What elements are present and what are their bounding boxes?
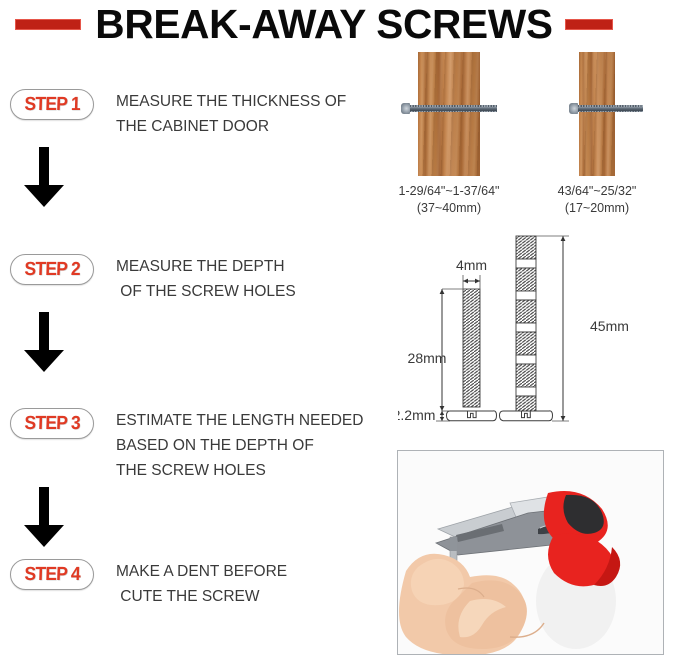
- screw-shaft: [410, 107, 497, 111]
- step-badge-1[interactable]: STEP 1: [10, 89, 94, 120]
- step-line: MEASURE THE THICKNESS OF: [116, 89, 346, 114]
- dimension-45mm: 45mm: [590, 318, 629, 334]
- door-panel-thin: 43/64"~25/32" (17~20mm): [523, 52, 671, 217]
- dimension-imperial: 1-29/64"~1-37/64": [375, 183, 523, 200]
- steps-list: STEP 1 MEASURE THE THICKNESS OF THE CABI…: [0, 48, 375, 662]
- step-badge-label: STEP 4: [24, 564, 80, 586]
- step-line: THE CABINET DOOR: [116, 114, 346, 139]
- red-dash-icon: [15, 19, 81, 30]
- arrow-down-icon: [16, 485, 72, 551]
- screw-head: [569, 103, 578, 114]
- step-row: STEP 2 MEASURE THE DEPTH OF THE SCREW HO…: [0, 254, 296, 304]
- door-panel-thick: 1-29/64"~1-37/64" (37~40mm): [375, 52, 523, 217]
- step-badge-label: STEP 1: [24, 94, 80, 116]
- door-thickness-illustration: 1-29/64"~1-37/64" (37~40mm) 43/64"~25/32…: [375, 52, 679, 220]
- step-line: THE SCREW HOLES: [116, 458, 363, 483]
- screw-shaft: [578, 107, 643, 111]
- red-dash-icon: [565, 19, 613, 30]
- pliers-photo: [397, 450, 664, 655]
- wood-panel: [579, 52, 615, 176]
- dimension-metric: (37~40mm): [375, 200, 523, 217]
- panel-dimension-caption: 43/64"~25/32" (17~20mm): [523, 183, 671, 217]
- step-description-4: MAKE A DENT BEFORE CUTE THE SCREW: [116, 559, 287, 609]
- step-line: ESTIMATE THE LENGTH NEEDED: [116, 408, 363, 433]
- screw-head: [401, 103, 410, 114]
- dimension-4mm: 4mm: [456, 257, 487, 273]
- dimension-28mm: 28mm: [408, 350, 447, 366]
- step-row: STEP 3 ESTIMATE THE LENGTH NEEDED BASED …: [0, 408, 363, 483]
- dimension-2.2mm: 2.2mm: [398, 407, 435, 423]
- step-line: BASED ON THE DEPTH OF: [116, 433, 363, 458]
- step-row: STEP 4 MAKE A DENT BEFORE CUTE THE SCREW: [0, 559, 287, 609]
- step-description-2: MEASURE THE DEPTH OF THE SCREW HOLES: [116, 254, 296, 304]
- screw-through-panel: [401, 104, 497, 113]
- wood-panel: [418, 52, 480, 176]
- dimension-imperial: 43/64"~25/32": [523, 183, 671, 200]
- step-badge-label: STEP 2: [24, 259, 80, 281]
- dimension-metric: (17~20mm): [523, 200, 671, 217]
- step-line: OF THE SCREW HOLES: [116, 279, 296, 304]
- step-line: MEASURE THE DEPTH: [116, 254, 296, 279]
- page-title: BREAK-AWAY SCREWS: [95, 4, 552, 45]
- panel-dimension-caption: 1-29/64"~1-37/64" (37~40mm): [375, 183, 523, 217]
- screw-dimension-drawing: 4mm 28mm 2.2mm 45mm: [398, 228, 679, 433]
- step-badge-2[interactable]: STEP 2: [10, 254, 94, 285]
- step-badge-label: STEP 3: [24, 413, 80, 435]
- step-badge-3[interactable]: STEP 3: [10, 408, 94, 439]
- step-line: MAKE A DENT BEFORE: [116, 559, 287, 584]
- pliers-photo-graphic: [398, 451, 664, 655]
- arrow-down-icon: [16, 145, 72, 211]
- step-description-3: ESTIMATE THE LENGTH NEEDED BASED ON THE …: [116, 408, 363, 483]
- step-description-1: MEASURE THE THICKNESS OF THE CABINET DOO…: [116, 89, 346, 139]
- step-row: STEP 1 MEASURE THE THICKNESS OF THE CABI…: [0, 89, 346, 139]
- page-header: BREAK-AWAY SCREWS: [0, 0, 679, 48]
- screw-through-panel: [569, 104, 643, 113]
- arrow-down-icon: [16, 310, 72, 376]
- step-badge-4[interactable]: STEP 4: [10, 559, 94, 590]
- step-line: CUTE THE SCREW: [116, 584, 287, 609]
